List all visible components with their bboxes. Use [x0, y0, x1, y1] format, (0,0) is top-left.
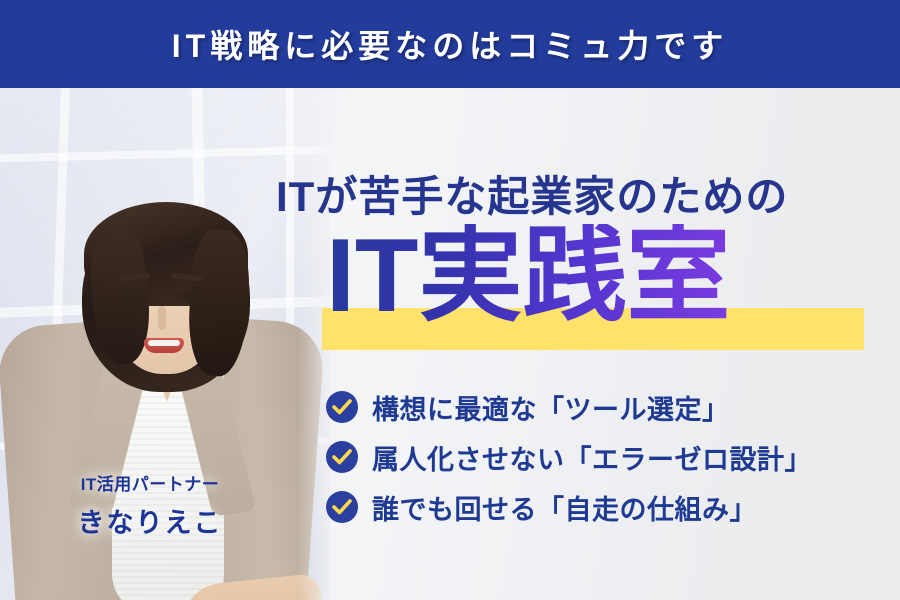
feature-list: 構想に最適な「ツール選定」 属人化させない「エラーゼロ設計」 誰でも回せる「自走…	[326, 388, 886, 538]
hero-title-group: IT実践室	[322, 238, 864, 350]
list-item: 構想に最適な「ツール選定」	[326, 388, 886, 426]
list-item-label: 誰でも回せる「自走の仕組み」	[372, 488, 757, 527]
check-circle-icon	[326, 441, 358, 473]
check-circle-icon	[326, 491, 358, 523]
list-item-label: 構想に最適な「ツール選定」	[372, 388, 730, 427]
list-item-label: 属人化させない「エラーゼロ設計」	[372, 438, 812, 477]
hero-title: IT実践室	[326, 224, 730, 328]
header-title: IT戦略に必要なのはコミュ力です	[172, 21, 728, 67]
promo-banner: IT戦略に必要なのはコミュ力です	[0, 0, 900, 600]
list-item: 属人化させない「エラーゼロ設計」	[326, 438, 886, 476]
check-circle-icon	[326, 391, 358, 423]
header-bar: IT戦略に必要なのはコミュ力です	[0, 0, 900, 88]
content-area: ITが苦手な起業家のための IT実践室 構想に最適な「ツール選定」	[0, 88, 900, 600]
hero-subheading: ITが苦手な起業家のための	[276, 163, 788, 224]
list-item: 誰でも回せる「自走の仕組み」	[326, 488, 886, 526]
